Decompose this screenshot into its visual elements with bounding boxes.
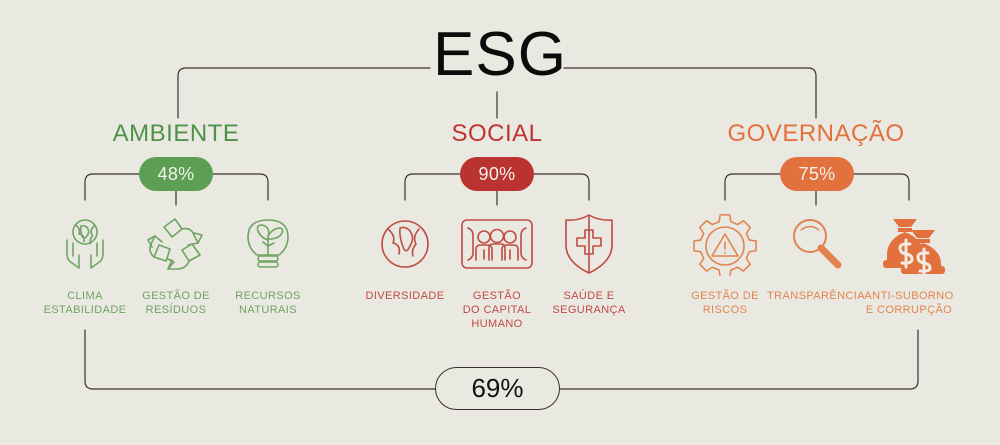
wire-bottom-right [560, 330, 918, 389]
item-label: RECURSOS NATURAIS [203, 290, 333, 318]
pillar-heading-social: SOCIAL [377, 122, 617, 146]
pillar-heading-ambiente: AMBIENTE [56, 122, 296, 146]
wire-bottom-left [85, 330, 435, 389]
pillar-score-governacao: 75% [780, 157, 854, 191]
wire-social-left [405, 174, 460, 200]
wire-ambiente-left [85, 174, 140, 200]
pillar-score-social: 90% [460, 157, 534, 191]
wire-ambiente-right [213, 174, 268, 200]
wire-governacao-left [725, 174, 780, 200]
esg-infographic: ESG AMBIENTE 48% CLIMA ESTABILIDADE [0, 0, 1000, 445]
item-label: SAÚDE E SEGURANÇA [524, 290, 654, 318]
pillar-score-ambiente: 48% [139, 157, 213, 191]
item-saude-seguranca[interactable]: SAÚDE E SEGURANÇA [524, 206, 654, 318]
lightbulb-leaf-icon [203, 206, 333, 282]
shield-cross-icon [524, 206, 654, 282]
item-recursos-naturais[interactable]: RECURSOS NATURAIS [203, 206, 333, 318]
wire-governacao-right [854, 174, 909, 200]
wire-social-right [534, 174, 589, 200]
page-title: ESG [0, 24, 1000, 86]
item-anti-suborno-corrupcao[interactable]: ANTI-SUBORNO E CORRUPÇÃO [844, 206, 974, 318]
money-bags-icon [844, 206, 974, 282]
item-label: ANTI-SUBORNO E CORRUPÇÃO [844, 290, 974, 318]
overall-score-badge: 69% [435, 367, 560, 410]
pillar-heading-governacao: GOVERNAÇÃO [696, 122, 936, 146]
